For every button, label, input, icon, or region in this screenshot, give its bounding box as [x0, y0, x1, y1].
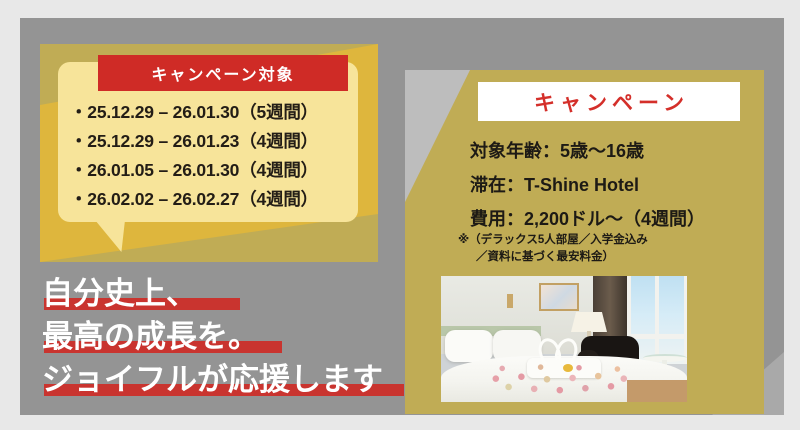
- slogan-text-1: 自分史上、: [42, 276, 197, 311]
- campaign-banner-label: キャンペーン: [529, 87, 689, 117]
- photo-lamp-shade: [571, 312, 607, 332]
- slogan-text-2: 最高の成長を。: [42, 319, 259, 354]
- list-item: ・26.01.05 – 26.01.30（4週間）: [70, 156, 370, 185]
- poster-canvas: キャンペーン対象 ・25.12.29 – 26.01.30（5週間） ・25.1…: [0, 0, 800, 430]
- campaign-banner: キャンペーン: [478, 82, 740, 121]
- photo-wall-sconce: [507, 294, 513, 308]
- campaign-fineprint: ※（デラックス5人部屋／入学金込み ／資料に基づく最安料金）: [458, 232, 728, 266]
- fineprint-line-2: ／資料に基づく最安料金）: [458, 249, 728, 266]
- info-cost: 費用：2,200ドル〜（4週間）: [470, 202, 750, 236]
- photo-window-mullion: [655, 276, 659, 364]
- campaign-target-banner-label: キャンペーン対象: [151, 61, 294, 85]
- campaign-target-banner: キャンペーン対象: [98, 55, 348, 91]
- list-item: ・26.02.02 – 26.02.27（4週間）: [70, 185, 370, 214]
- slogan-line-1: 自分史上、: [42, 272, 412, 315]
- info-stay: 滞在：T-Shine Hotel: [470, 168, 750, 202]
- photo-floor: [627, 380, 687, 402]
- fineprint-line-1: ※（デラックス5人部屋／入学金込み: [458, 232, 728, 249]
- photo-wall-art: [539, 283, 579, 311]
- info-age: 対象年齢：5歳〜16歳: [470, 134, 750, 168]
- slogan-block: 自分史上、 最高の成長を。 ジョイフルが応援します: [42, 272, 412, 401]
- photo-pillow-left: [445, 330, 493, 362]
- slogan-line-3: ジョイフルが応援します: [42, 358, 412, 401]
- slogan-line-2: 最高の成長を。: [42, 315, 412, 358]
- photo-swan-towel: [537, 338, 577, 364]
- list-item: ・25.12.29 – 26.01.30（5週間）: [70, 98, 370, 127]
- hotel-room-photo: [441, 276, 687, 402]
- slogan-text-3: ジョイフルが応援します: [42, 362, 383, 397]
- list-item: ・25.12.29 – 26.01.23（4週間）: [70, 127, 370, 156]
- photo-petal-accent: [563, 364, 573, 372]
- campaign-info-list: 対象年齢：5歳〜16歳 滞在：T-Shine Hotel 費用：2,200ドル〜…: [470, 134, 750, 236]
- photo-window-sill: [627, 334, 687, 339]
- campaign-date-list: ・25.12.29 – 26.01.30（5週間） ・25.12.29 – 26…: [70, 98, 370, 214]
